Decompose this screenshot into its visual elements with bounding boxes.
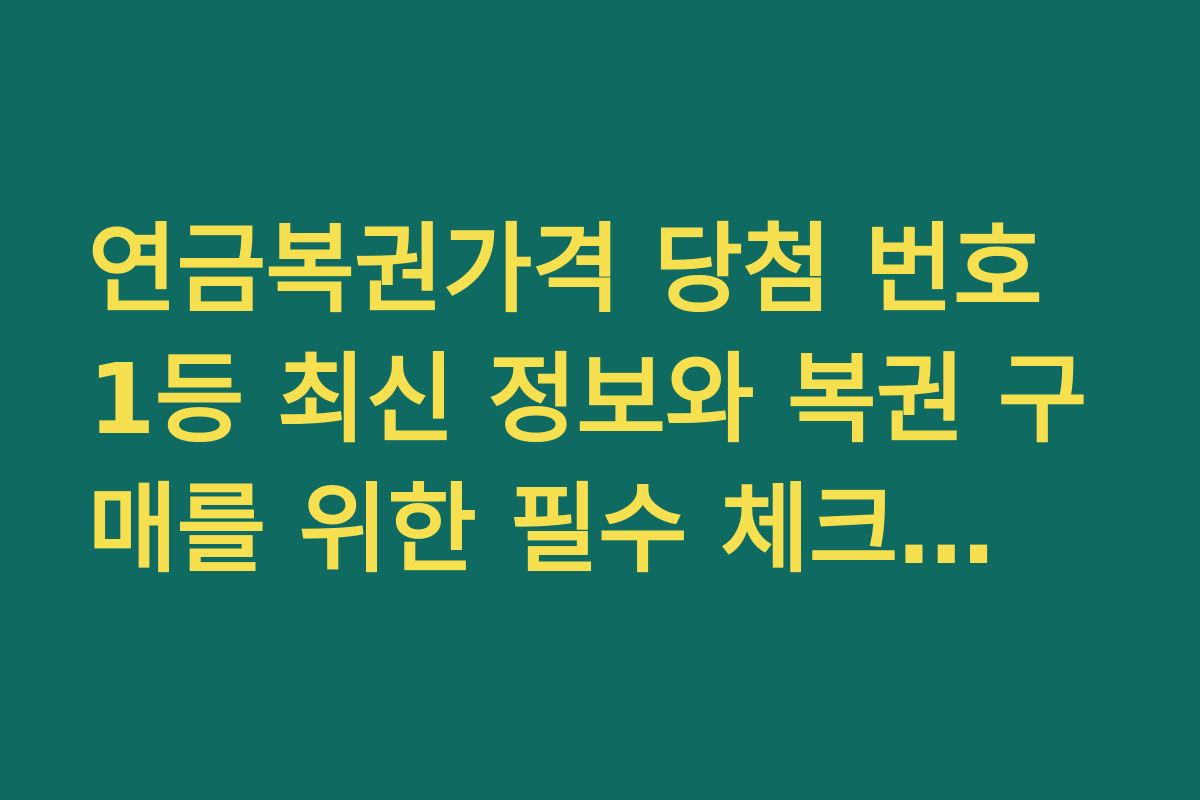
title-line-3: 매를 위한 필수 체크… (88, 465, 1120, 595)
thumbnail-card: 연금복권가격 당첨 번호 1등 최신 정보와 복권 구 매를 위한 필수 체크… (0, 0, 1200, 800)
title-line-2: 1등 최신 정보와 복권 구 (88, 335, 1120, 465)
title-line-1: 연금복권가격 당첨 번호 (88, 205, 1120, 335)
page-title: 연금복권가격 당첨 번호 1등 최신 정보와 복권 구 매를 위한 필수 체크… (88, 205, 1120, 595)
